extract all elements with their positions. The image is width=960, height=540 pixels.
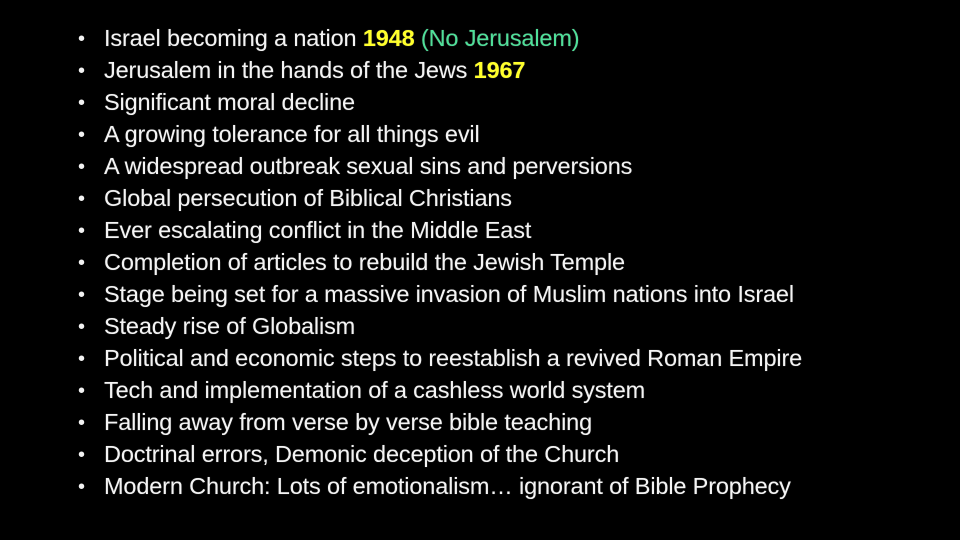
bullet-item-global-persecution: •Global persecution of Biblical Christia…: [0, 182, 960, 214]
bullet-item-sexual-sins: •A widespread outbreak sexual sins and p…: [0, 150, 960, 182]
bullet-text: Tech and implementation of a cashless wo…: [104, 374, 645, 406]
bullet-text: Completion of articles to rebuild the Je…: [104, 246, 625, 278]
bullet-segment-plain: Completion of articles to rebuild the Je…: [104, 249, 625, 275]
bullet-text: Modern Church: Lots of emotionalism… ign…: [104, 470, 791, 502]
bullet-item-middle-east-conflict: •Ever escalating conflict in the Middle …: [0, 214, 960, 246]
bullet-text: Israel becoming a nation 1948 (No Jerusa…: [104, 22, 579, 54]
bullet-segment-year: 1967: [474, 57, 526, 83]
bullet-text: Significant moral decline: [104, 86, 355, 118]
bullet-dot-icon: •: [78, 343, 104, 375]
bullet-text: Political and economic steps to reestabl…: [104, 342, 802, 374]
bullet-item-jewish-temple-articles: •Completion of articles to rebuild the J…: [0, 246, 960, 278]
presentation-slide: •Israel becoming a nation 1948 (No Jerus…: [0, 0, 960, 540]
bullet-segment-plain: Israel becoming a nation: [104, 25, 363, 51]
bullet-dot-icon: •: [78, 87, 104, 119]
bullet-list: •Israel becoming a nation 1948 (No Jerus…: [0, 22, 960, 502]
bullet-text: Doctrinal errors, Demonic deception of t…: [104, 438, 619, 470]
bullet-text: Stage being set for a massive invasion o…: [104, 278, 794, 310]
bullet-dot-icon: •: [78, 471, 104, 503]
bullet-segment-plain: A widespread outbreak sexual sins and pe…: [104, 153, 632, 179]
bullet-item-rise-of-globalism: •Steady rise of Globalism: [0, 310, 960, 342]
bullet-text: Steady rise of Globalism: [104, 310, 355, 342]
bullet-segment-plain: Political and economic steps to reestabl…: [104, 345, 802, 371]
bullet-item-muslim-invasion-israel: •Stage being set for a massive invasion …: [0, 278, 960, 310]
bullet-item-revived-roman-empire: •Political and economic steps to reestab…: [0, 342, 960, 374]
bullet-segment-plain: Stage being set for a massive invasion o…: [104, 281, 794, 307]
bullet-dot-icon: •: [78, 55, 104, 87]
bullet-dot-icon: •: [78, 407, 104, 439]
bullet-segment-plain: Modern Church: Lots of emotionalism… ign…: [104, 473, 791, 499]
bullet-text: Global persecution of Biblical Christian…: [104, 182, 512, 214]
bullet-item-falling-away-teaching: •Falling away from verse by verse bible …: [0, 406, 960, 438]
bullet-segment-year: 1948: [363, 25, 415, 51]
bullet-dot-icon: •: [78, 375, 104, 407]
bullet-item-moral-decline: •Significant moral decline: [0, 86, 960, 118]
bullet-dot-icon: •: [78, 279, 104, 311]
bullet-segment-plain: Falling away from verse by verse bible t…: [104, 409, 592, 435]
bullet-text: A widespread outbreak sexual sins and pe…: [104, 150, 632, 182]
bullet-text: Ever escalating conflict in the Middle E…: [104, 214, 531, 246]
bullet-item-israel-nation-1948: •Israel becoming a nation 1948 (No Jerus…: [0, 22, 960, 54]
bullet-segment-plain: Global persecution of Biblical Christian…: [104, 185, 512, 211]
bullet-segment-plain: A growing tolerance for all things evil: [104, 121, 480, 147]
bullet-dot-icon: •: [78, 151, 104, 183]
bullet-dot-icon: •: [78, 119, 104, 151]
bullet-item-cashless-world-system: •Tech and implementation of a cashless w…: [0, 374, 960, 406]
bullet-text: A growing tolerance for all things evil: [104, 118, 480, 150]
bullet-dot-icon: •: [78, 23, 104, 55]
bullet-segment-plain: Significant moral decline: [104, 89, 355, 115]
bullet-item-modern-church-emotionalism: •Modern Church: Lots of emotionalism… ig…: [0, 470, 960, 502]
bullet-item-doctrinal-errors: •Doctrinal errors, Demonic deception of …: [0, 438, 960, 470]
bullet-dot-icon: •: [78, 439, 104, 471]
bullet-item-tolerance-evil: •A growing tolerance for all things evil: [0, 118, 960, 150]
bullet-segment-green: (No Jerusalem): [421, 25, 580, 51]
bullet-dot-icon: •: [78, 247, 104, 279]
bullet-segment-plain: Tech and implementation of a cashless wo…: [104, 377, 645, 403]
bullet-text: Falling away from verse by verse bible t…: [104, 406, 592, 438]
bullet-segment-plain: Jerusalem in the hands of the Jews: [104, 57, 474, 83]
bullet-item-jerusalem-1967: •Jerusalem in the hands of the Jews 1967: [0, 54, 960, 86]
bullet-segment-plain: Steady rise of Globalism: [104, 313, 355, 339]
bullet-dot-icon: •: [78, 215, 104, 247]
bullet-text: Jerusalem in the hands of the Jews 1967: [104, 54, 525, 86]
bullet-dot-icon: •: [78, 183, 104, 215]
bullet-segment-plain: Ever escalating conflict in the Middle E…: [104, 217, 531, 243]
bullet-segment-plain: Doctrinal errors, Demonic deception of t…: [104, 441, 619, 467]
bullet-dot-icon: •: [78, 311, 104, 343]
